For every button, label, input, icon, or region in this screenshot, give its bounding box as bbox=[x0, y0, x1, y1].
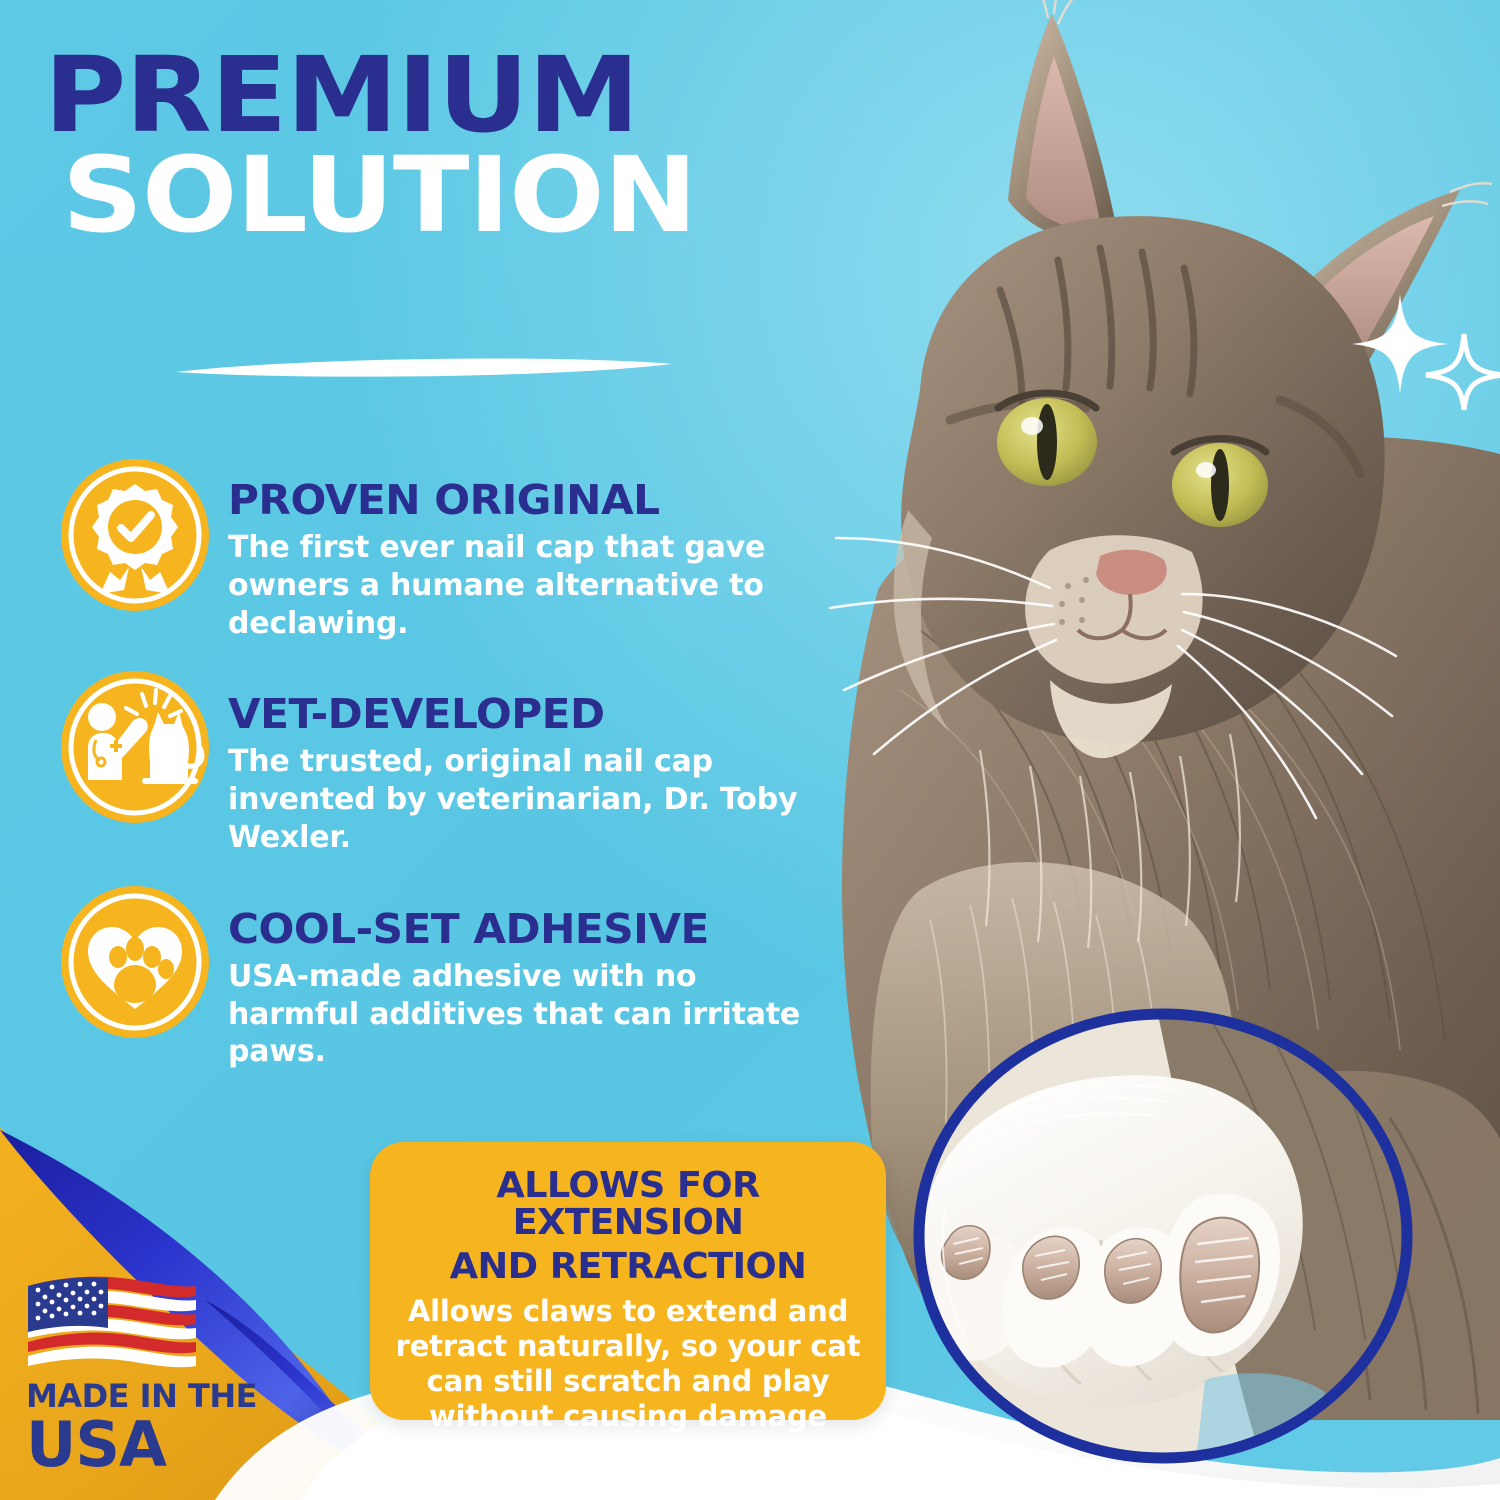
feature-title: COOL-SET ADHESIVE bbox=[228, 909, 846, 950]
page-title: PREMIUM SOLUTION bbox=[44, 48, 864, 243]
award-ribbon-icon bbox=[58, 458, 212, 612]
headline-line-2: SOLUTION bbox=[62, 148, 928, 244]
feature-description: USA-made adhesive with no harmful additi… bbox=[228, 958, 828, 1071]
feature-title: VET-DEVELOPED bbox=[228, 694, 846, 735]
feature-item: VET-DEVELOPED The trusted, original nail… bbox=[58, 678, 858, 856]
callout-description: Allows claws to extend and retract natur… bbox=[392, 1294, 864, 1433]
vet-high-five-cat-icon bbox=[58, 670, 212, 824]
feature-description: The first ever nail cap that gave owners… bbox=[228, 529, 828, 642]
headline-line-1: PREMIUM bbox=[44, 48, 930, 144]
sparkle-decoration-icon bbox=[1352, 290, 1500, 410]
feature-list: PROVEN ORIGINAL The first ever nail cap … bbox=[58, 466, 858, 1107]
feature-description: The trusted, original nail cap invented … bbox=[228, 743, 828, 856]
heart-paw-icon bbox=[58, 885, 212, 1039]
callout-title-line-1: ALLOWS FOR EXTENSION bbox=[387, 1168, 868, 1241]
headline-underline-swoosh bbox=[174, 352, 674, 382]
usa-flag-icon bbox=[24, 1270, 200, 1374]
made-in-usa-badge: MADE IN THE USA bbox=[24, 1270, 264, 1485]
cat-paw-closeup-inset bbox=[905, 1000, 1425, 1470]
feature-item: PROVEN ORIGINAL The first ever nail cap … bbox=[58, 466, 858, 642]
feature-item: COOL-SET ADHESIVE USA-made adhesive with… bbox=[58, 893, 858, 1071]
usa-badge-line-1: MADE IN THE bbox=[26, 1380, 264, 1412]
feature-title: PROVEN ORIGINAL bbox=[228, 480, 846, 521]
usa-badge-line-2: USA bbox=[26, 1414, 264, 1476]
extension-retraction-callout: ALLOWS FOR EXTENSION AND RETRACTION Allo… bbox=[370, 1142, 886, 1420]
callout-title-line-2: AND RETRACTION bbox=[387, 1249, 868, 1286]
product-infographic: PREMIUM SOLUTION PROVEN ORIGINAL The fir… bbox=[0, 0, 1500, 1500]
